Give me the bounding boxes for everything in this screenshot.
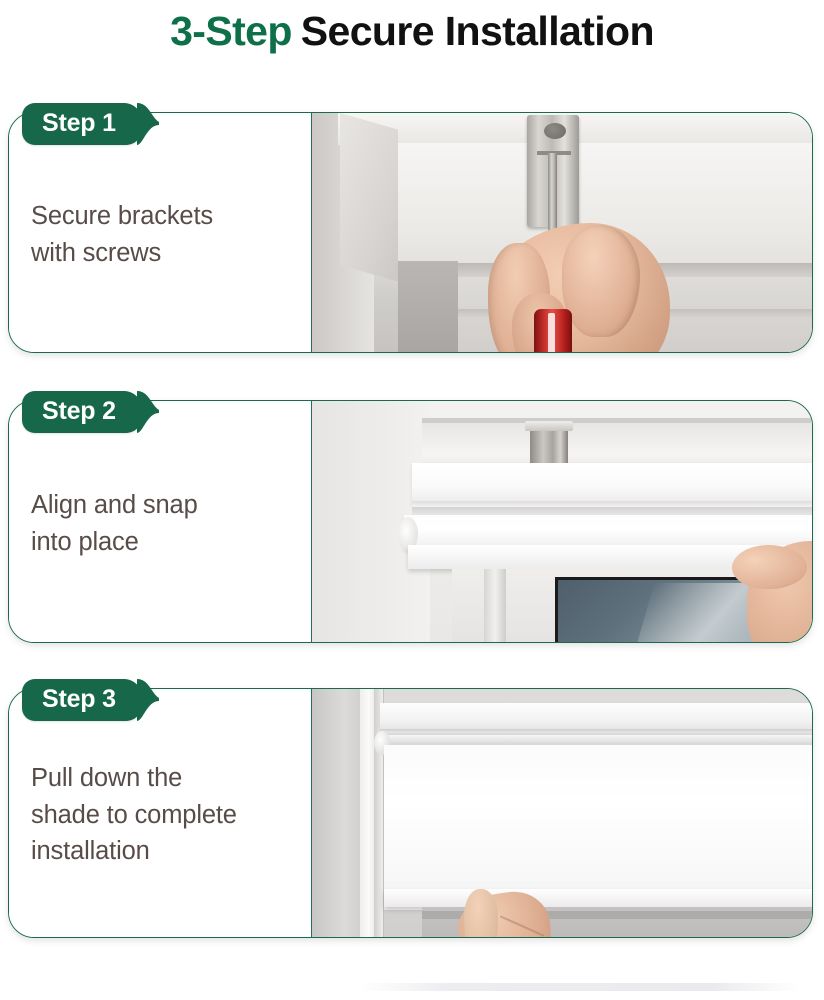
step-3-description: Pull down the shade to complete installa… (31, 760, 237, 871)
page-title: 3-StepSecure Installation (0, 0, 824, 62)
step-3-badge-label: Step 3 (22, 679, 142, 721)
page-title-text: 3-StepSecure Installation (170, 11, 654, 52)
step-3-badge-tail-icon (137, 679, 159, 721)
step-card-1: Secure brackets with screws (8, 112, 813, 353)
step-card-3: Pull down the shade to complete installa… (8, 688, 813, 938)
step-1-badge-tail-icon (137, 103, 159, 145)
step-1-text-panel: Secure brackets with screws (9, 113, 312, 352)
scene2-roller-tube (404, 515, 812, 549)
step-3-badge: Step 3 (22, 679, 142, 721)
scene1-thumb (562, 225, 640, 337)
page-title-rest: Secure Installation (301, 8, 654, 54)
step-2-badge-tail-icon (137, 391, 159, 433)
step-3-image (312, 689, 812, 937)
step-2-scene-snap-headrail (312, 401, 812, 642)
scene1-dark-gap (398, 261, 458, 352)
scene2-bracket-cap (525, 421, 573, 431)
scene3-shade-fabric (384, 745, 812, 910)
scene2-headrail-top (412, 463, 812, 505)
step-2-badge-label: Step 2 (22, 391, 142, 433)
scene2-window-mullion (484, 569, 506, 642)
step-3-text-panel: Pull down the shade to complete installa… (9, 689, 312, 937)
scene3-headrail (380, 703, 812, 729)
scene1-recess-side (340, 113, 398, 282)
page-title-highlight: 3-Step (170, 8, 292, 54)
step-2-badge: Step 2 (22, 391, 142, 433)
step-1-scene-bracket-screwdriver (312, 113, 812, 352)
bottom-band (360, 983, 800, 991)
step-1-badge-label: Step 1 (22, 103, 142, 145)
step-3-scene-pull-shade (312, 689, 812, 937)
step-1-description: Secure brackets with screws (31, 198, 213, 272)
step-2-image (312, 401, 812, 642)
scene3-headrail-line-2 (382, 735, 812, 743)
scene3-headrail-line-1 (380, 729, 812, 733)
step-2-text-panel: Align and snap into place (9, 401, 312, 642)
step-card-2: Align and snap into place (8, 400, 813, 643)
scene3-shade-bottom-bar (384, 889, 812, 907)
step-1-badge: Step 1 (22, 103, 142, 145)
scene1-screwdriver-stripe (548, 313, 555, 352)
scene3-finger (464, 889, 498, 937)
scene1-bracket-hole (544, 123, 566, 139)
step-2-description: Align and snap into place (31, 487, 198, 561)
step-1-image (312, 113, 812, 352)
scene2-recess-lip (422, 418, 812, 423)
installation-guide-page: 3-StepSecure Installation Secure bracket… (0, 0, 824, 1000)
scene2-finger (732, 545, 807, 589)
